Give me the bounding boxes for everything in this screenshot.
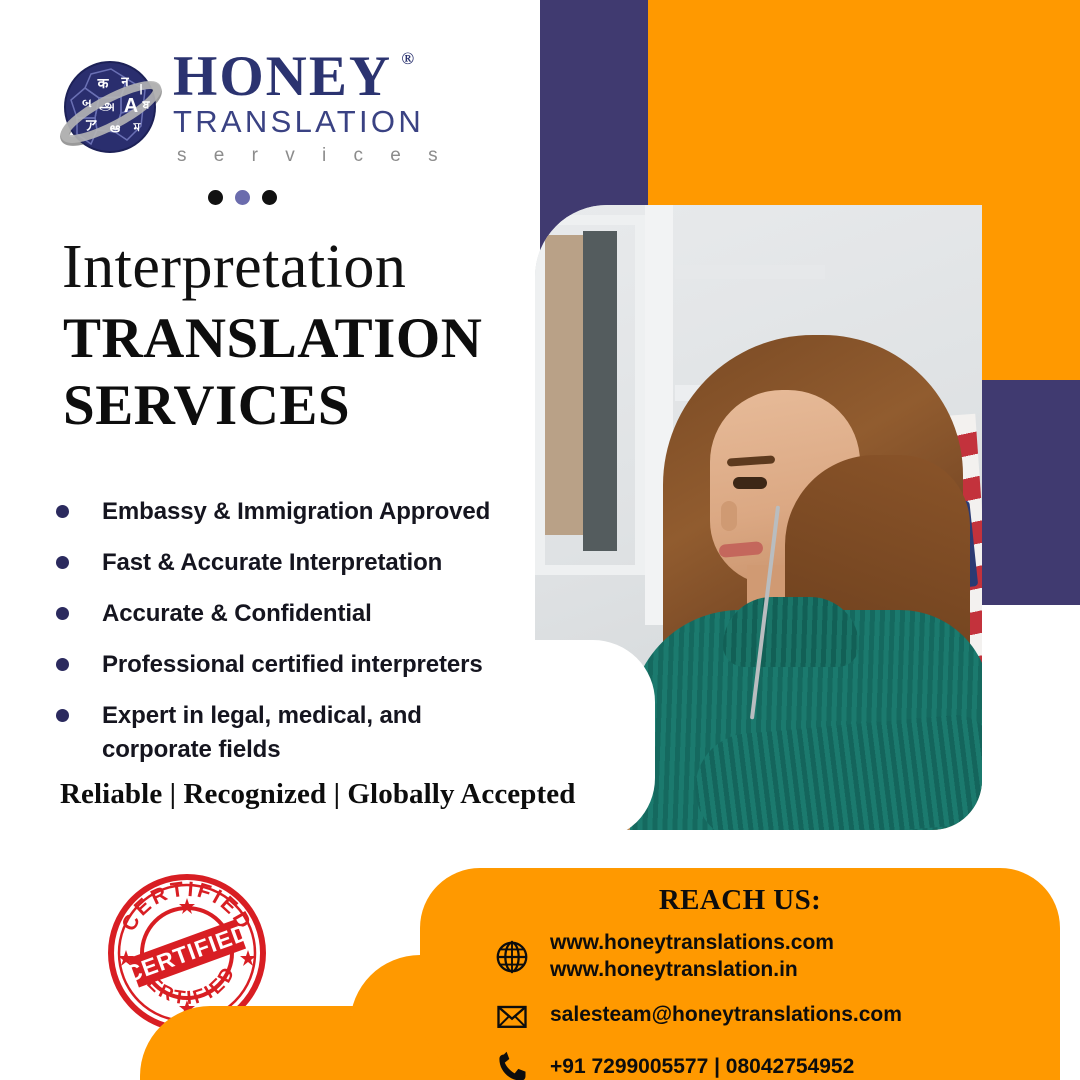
poster-canvas: क न | બ அ A ਬ ア ఆ ম HONEY® TRANSLATION s… [0, 0, 1080, 1080]
registered-mark-icon: ® [401, 50, 416, 67]
logo-name: HONEY® [173, 48, 392, 106]
bullet-dot-icon [56, 556, 69, 569]
contact-website-lines[interactable]: www.honeytranslations.com www.honeytrans… [550, 930, 834, 984]
svg-text:A: A [124, 95, 138, 117]
contact-row-phone: +91 7299005577 | 08042754952 [492, 1048, 1052, 1080]
headline-script: Interpretation [62, 232, 406, 303]
dot-2-icon [235, 190, 250, 205]
svg-text:न: न [120, 74, 129, 89]
svg-text:ア: ア [84, 118, 97, 133]
list-item-label: Expert in legal, medical, and corporate … [102, 699, 462, 767]
bullet-dot-icon [56, 709, 69, 722]
dot-1-icon [208, 190, 223, 205]
headline-line-1: TRANSLATION [63, 305, 533, 372]
list-item-label: Fast & Accurate Interpretation [102, 546, 442, 580]
feature-list: Embassy & Immigration Approved Fast & Ac… [56, 495, 526, 784]
svg-text:क: क [97, 75, 110, 91]
contact-email[interactable]: salesteam@honeytranslations.com [550, 1002, 902, 1029]
contact-phone[interactable]: +91 7299005577 | 08042754952 [550, 1054, 854, 1080]
headline-main: TRANSLATION SERVICES [63, 305, 533, 440]
contact-heading: REACH US: [420, 884, 1060, 917]
logo-wordmark: HONEY® TRANSLATION s e r v i c e s [173, 48, 449, 167]
photo-eye [733, 477, 767, 489]
globe-languages-icon: क न | બ அ A ਬ ア ఆ ম [55, 52, 167, 164]
contact-row-website: www.honeytranslations.com www.honeytrans… [492, 930, 1052, 984]
logo-subtitle: TRANSLATION [173, 104, 449, 140]
bullet-dot-icon [56, 658, 69, 671]
website-secondary[interactable]: www.honeytranslation.in [550, 958, 798, 981]
photo-window-frame [535, 215, 645, 575]
logo-tagline: s e r v i c e s [177, 145, 449, 167]
contact-rows: www.honeytranslations.com www.honeytrans… [492, 930, 1052, 1080]
list-item: Expert in legal, medical, and corporate … [56, 699, 526, 767]
photo-shelf-top [675, 265, 825, 279]
contact-card: REACH US: www.honeytranslations.com www. [420, 868, 1060, 1080]
website-primary[interactable]: www.honeytranslations.com [550, 931, 834, 954]
contact-row-email: salesteam@honeytranslations.com [492, 996, 1052, 1036]
envelope-icon [492, 996, 532, 1036]
bullet-dot-icon [56, 607, 69, 620]
svg-text:ম: ম [133, 120, 142, 134]
globe-icon [492, 937, 532, 977]
list-item: Professional certified interpreters [56, 648, 526, 682]
list-item-label: Professional certified interpreters [102, 648, 483, 682]
dot-3-icon [262, 190, 277, 205]
tagline: Reliable | Recognized | Globally Accepte… [60, 778, 575, 811]
decorative-dots [208, 190, 277, 205]
list-item: Accurate & Confidential [56, 597, 526, 631]
photo-collar [723, 597, 859, 667]
list-item-label: Accurate & Confidential [102, 597, 372, 631]
svg-text:ఆ: ఆ [110, 120, 121, 135]
brand-logo: क न | બ அ A ਬ ア ఆ ম HONEY® TRANSLATION s… [55, 48, 475, 178]
photo-nose [721, 501, 737, 531]
list-item: Embassy & Immigration Approved [56, 495, 526, 529]
headline-line-2: SERVICES [63, 372, 533, 439]
svg-text:அ: அ [99, 97, 115, 113]
logo-name-text: HONEY [173, 45, 392, 108]
phone-icon [492, 1048, 532, 1080]
svg-text:બ: બ [82, 96, 92, 110]
list-item-label: Embassy & Immigration Approved [102, 495, 490, 529]
bullet-dot-icon [56, 505, 69, 518]
list-item: Fast & Accurate Interpretation [56, 546, 526, 580]
svg-text:ਬ: ਬ [142, 99, 151, 111]
svg-text:|: | [139, 83, 142, 95]
